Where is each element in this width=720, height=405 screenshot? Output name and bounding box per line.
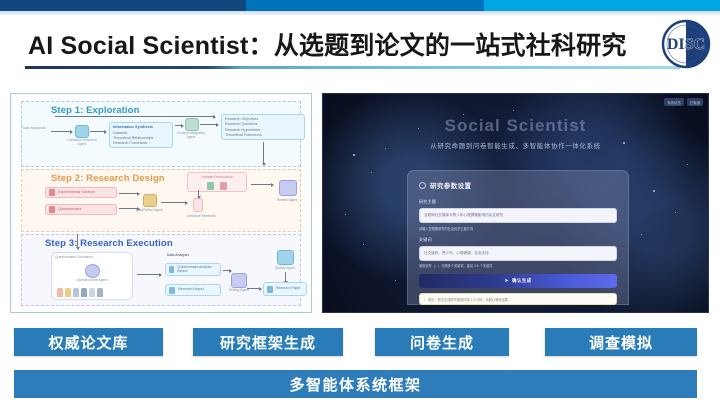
research-objectives-node: Research Objectives Research Questions R… (221, 114, 305, 140)
keywords-field-hint: 使用逗号（，）分隔多个关键词，建议 3-6 个关键词 (419, 263, 617, 268)
topbar-segment-mid-blue (246, 0, 484, 11)
document-icon (49, 189, 55, 196)
research-parameters-panel: 研究参数设置 研究主题 互联网社交媒体对青少年心理健康影响的实证研究 请输入您想… (407, 170, 629, 305)
respondent-4-icon (81, 288, 87, 297)
objective-item-4: Theoretical Framework (225, 133, 301, 138)
arrow-sim-to-reports (137, 274, 161, 275)
footer-banner: 多智能体系统框架 (14, 370, 697, 398)
light-dot (345, 214, 346, 215)
questionnaire-label: Questionnaire (58, 207, 82, 213)
step1-label: Step 1: Exploration (51, 105, 139, 116)
simulation-agent-icon (85, 264, 100, 278)
panel-title: 研究参数设置 (430, 180, 471, 190)
research-paper-label: Research Paper (276, 287, 301, 291)
arrow-questionnaire-to-agent (119, 208, 139, 209)
feature-chip-questionnaire-generation[interactable]: 问卷生成 (375, 328, 509, 356)
webapp-screenshot-figure: 系统状态 已就绪 Social Scientist 从研究命题到问卷智能生成、多… (322, 93, 709, 313)
report-icon-1 (169, 266, 174, 273)
writing-agent-icon (231, 273, 247, 288)
generate-button-label: 确认生成 (512, 278, 532, 284)
arrow-writer-to-paper (247, 288, 261, 289)
respondent-6-icon (97, 288, 103, 297)
information-synthesis-title: Information Synthesis (113, 125, 153, 129)
generate-button[interactable]: ➤ 确认生成 (419, 274, 617, 288)
arrow-step2-to-step3 (77, 234, 78, 248)
page-title: AI Social Scientist：从选题到论文的一站式社科研究 (28, 24, 648, 64)
questionnaire-analysis-report-box: Questionnaire Analysis Report (165, 263, 221, 276)
questionnaire-box: Questionnaire (45, 204, 117, 215)
analysis-report-label: Questionnaire Analysis Report (177, 266, 217, 273)
disc-logo: DISC (660, 18, 712, 70)
literature-icon (193, 198, 203, 212)
information-synthesis-node: Information Synthesis Datasets Theoretic… (109, 122, 173, 148)
content-integration-agent-icon (185, 118, 199, 131)
experimental-scheme-box: Experimental Scheme (45, 187, 117, 198)
arrow-report-to-writer (223, 270, 231, 271)
topic-input[interactable]: 互联网社交媒体对青少年心理健康影响的实证研究 (419, 208, 617, 223)
research-report-label: Research Report (178, 287, 204, 292)
topic-field-hint: 请输入您想要研究的社会科学主题方向 (419, 226, 617, 231)
respondent-1-icon (57, 288, 63, 297)
feature-chip-framework-generation[interactable]: 研究框架生成 (193, 328, 343, 356)
respondent-5-icon (89, 288, 95, 297)
respondent-3-icon (73, 288, 79, 297)
variable-b-icon (220, 182, 227, 190)
status-badge[interactable]: 系统状态 已就绪 (664, 98, 703, 106)
feature-chip-paper-library[interactable]: 权威论文库 (14, 328, 163, 356)
variable-a-icon (207, 182, 214, 190)
feature-chip-survey-simulation[interactable]: 调查模拟 (545, 328, 697, 356)
data-analysis-label: Data Analysis (167, 253, 189, 257)
arrow-integration-to-outputs (200, 124, 218, 125)
light-dot (371, 172, 372, 173)
synthesis-item-3: Research Framework (113, 141, 169, 146)
warning-icon: ! (424, 297, 425, 302)
topbar-shadow (0, 11, 720, 15)
feature-chip-row: 权威论文库 研究框架生成 问卷生成 调查模拟 (0, 328, 720, 356)
research-report-box: Research Report (165, 284, 221, 296)
keywords-field-label: 关键词 (419, 237, 617, 243)
literature-retrieval-label: Literature Retrieval (175, 214, 227, 218)
content-integration-agent-label: Content Integration Agent (172, 131, 210, 139)
step3-label: Step 3: Research Execution (45, 238, 173, 249)
variable-relationship-title: Variable Relationship (191, 175, 243, 180)
review-agent-icon (279, 180, 297, 196)
respondent-2-icon (65, 288, 71, 297)
svg-text:DISC: DISC (667, 36, 705, 53)
arrow-scheme-to-agent (119, 193, 139, 194)
arrow-agent-to-literature (161, 202, 187, 203)
arrow-topic-to-agent (51, 131, 72, 132)
topic-keywords-input: Topic Keywords (22, 126, 52, 130)
info-note-text: 提示：首次生成研究框架约需 1-3 分钟，请耐心等待结果 (428, 297, 508, 302)
slide: AI Social Scientist：从选题到论文的一站式社科研究 DISC … (0, 0, 720, 405)
variable-relationship-node: Variable Relationship (187, 172, 247, 192)
simulation-agent-label: Questionnaire Agent (71, 278, 113, 282)
form-icon (49, 206, 55, 213)
topbar-segment-cyan (484, 0, 720, 11)
topbar-segment-dark-blue (0, 0, 246, 11)
arrow-relation-to-review (251, 184, 273, 185)
literature-search-agent-label: Literature Searches Agent (63, 138, 101, 146)
simulation-title: Questionnaire Simulation (55, 255, 129, 260)
light-dot (513, 110, 514, 111)
status-badge-left: 系统状态 (664, 98, 684, 106)
quality-agent-icon (277, 250, 294, 265)
literature-search-agent-icon (75, 125, 89, 138)
hero-title: Social Scientist (323, 116, 708, 136)
light-dot (353, 154, 355, 156)
report-icon-2 (169, 287, 175, 294)
arrow-quality-loop (285, 272, 286, 282)
research-paper-box: Research Paper (263, 282, 307, 296)
arrow-synthesis-to-integration (175, 125, 183, 126)
paper-icon (267, 286, 273, 293)
light-dot (641, 234, 642, 235)
panel-header: 研究参数设置 (419, 180, 617, 190)
arrow-relation-down (198, 190, 199, 197)
arrow-long-topic-to-outputs (55, 116, 215, 117)
gear-icon (419, 182, 426, 189)
status-badge-right: 已就绪 (687, 98, 703, 106)
light-dot (653, 190, 655, 192)
title-underline (25, 66, 680, 69)
keywords-input[interactable]: 社交媒体、青少年、心理健康、社会支持 (419, 246, 617, 261)
arrow-agent-to-synthesis (90, 131, 106, 132)
quality-agent-label: Quality Agent (263, 266, 307, 270)
experimental-scheme-label: Experimental Scheme (58, 190, 95, 196)
flowchart-figure: Step 1: Exploration Topic Keywords Liter… (10, 93, 312, 313)
step2-label: Step 2: Research Design (51, 173, 165, 184)
design-agent-icon (143, 194, 157, 207)
arrow-outputs-down (263, 142, 264, 164)
topic-field-label: 研究主题 (419, 199, 617, 205)
rocket-icon: ➤ (504, 279, 509, 284)
light-dot (395, 280, 396, 281)
top-color-bar (0, 0, 720, 11)
info-note: ! 提示：首次生成研究框架约需 1-3 分钟，请耐心等待结果 (419, 293, 617, 305)
hero-subtitle: 从研究命题到问卷智能生成、多智能体协作一体化系统 (323, 140, 708, 150)
simulated-respondents (57, 288, 103, 297)
review-agent-label: Review Agent (265, 198, 309, 202)
